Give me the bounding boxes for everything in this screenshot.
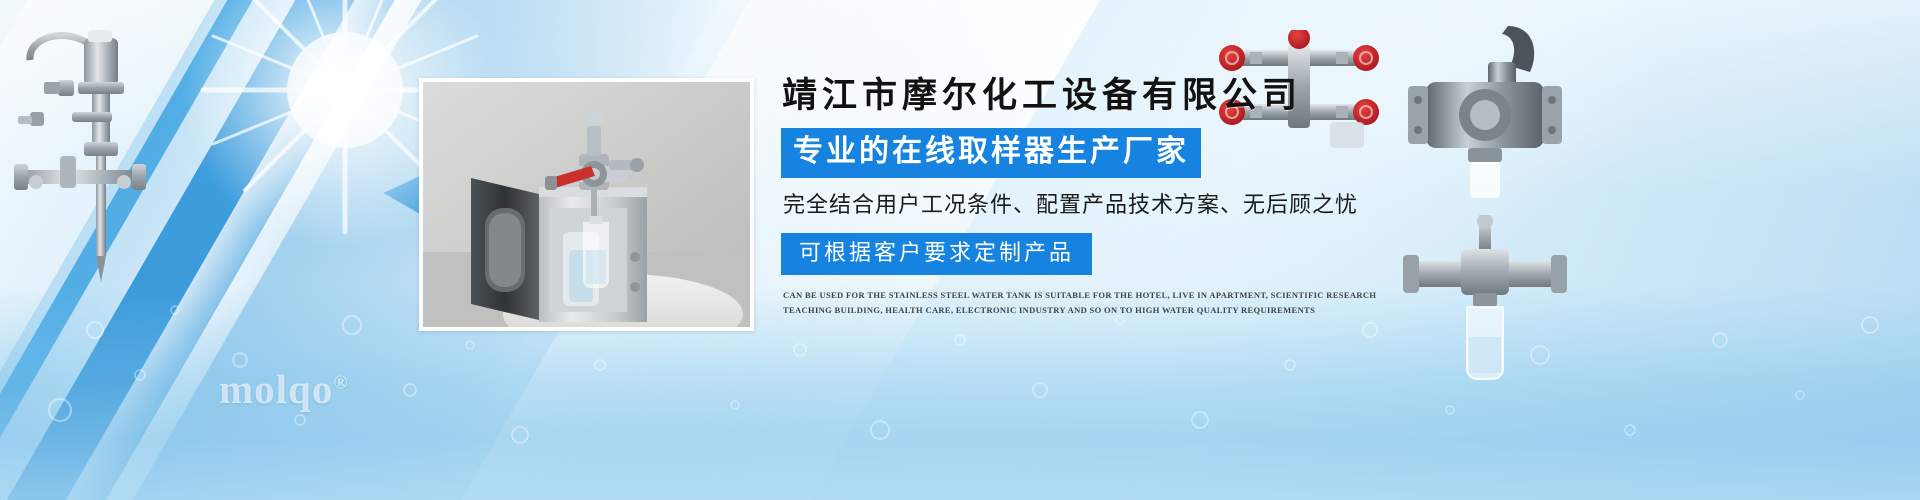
headline-text-block: 靖江市摩尔化工设备有限公司 专业的在线取样器生产厂家 完全结合用户工况条件、配置… bbox=[781, 78, 1401, 318]
inline-sampler-image bbox=[1395, 215, 1575, 400]
watermark-logo: molqo® bbox=[219, 365, 349, 413]
headline-badge: 专业的在线取样器生产厂家 bbox=[781, 128, 1201, 178]
company-name: 靖江市摩尔化工设备有限公司 bbox=[782, 78, 1401, 113]
watermark-label: molqo bbox=[219, 366, 333, 412]
product-photo bbox=[423, 82, 750, 327]
left-equipment-image bbox=[0, 20, 170, 300]
product-photo-card bbox=[419, 78, 754, 331]
fineprint-text: CAN BE USED FOR THE STAINLESS STEEL WATE… bbox=[783, 288, 1393, 318]
cta-badge[interactable]: 可根据客户要求定制产品 bbox=[781, 233, 1092, 275]
flanged-sampler-image bbox=[1390, 20, 1575, 205]
promo-banner: 靖江市摩尔化工设备有限公司 专业的在线取样器生产厂家 完全结合用户工况条件、配置… bbox=[0, 0, 1920, 500]
registered-trademark-icon: ® bbox=[333, 372, 348, 393]
sub-headline: 完全结合用户工况条件、配置产品技术方案、无后顾之忧 bbox=[783, 194, 1401, 216]
